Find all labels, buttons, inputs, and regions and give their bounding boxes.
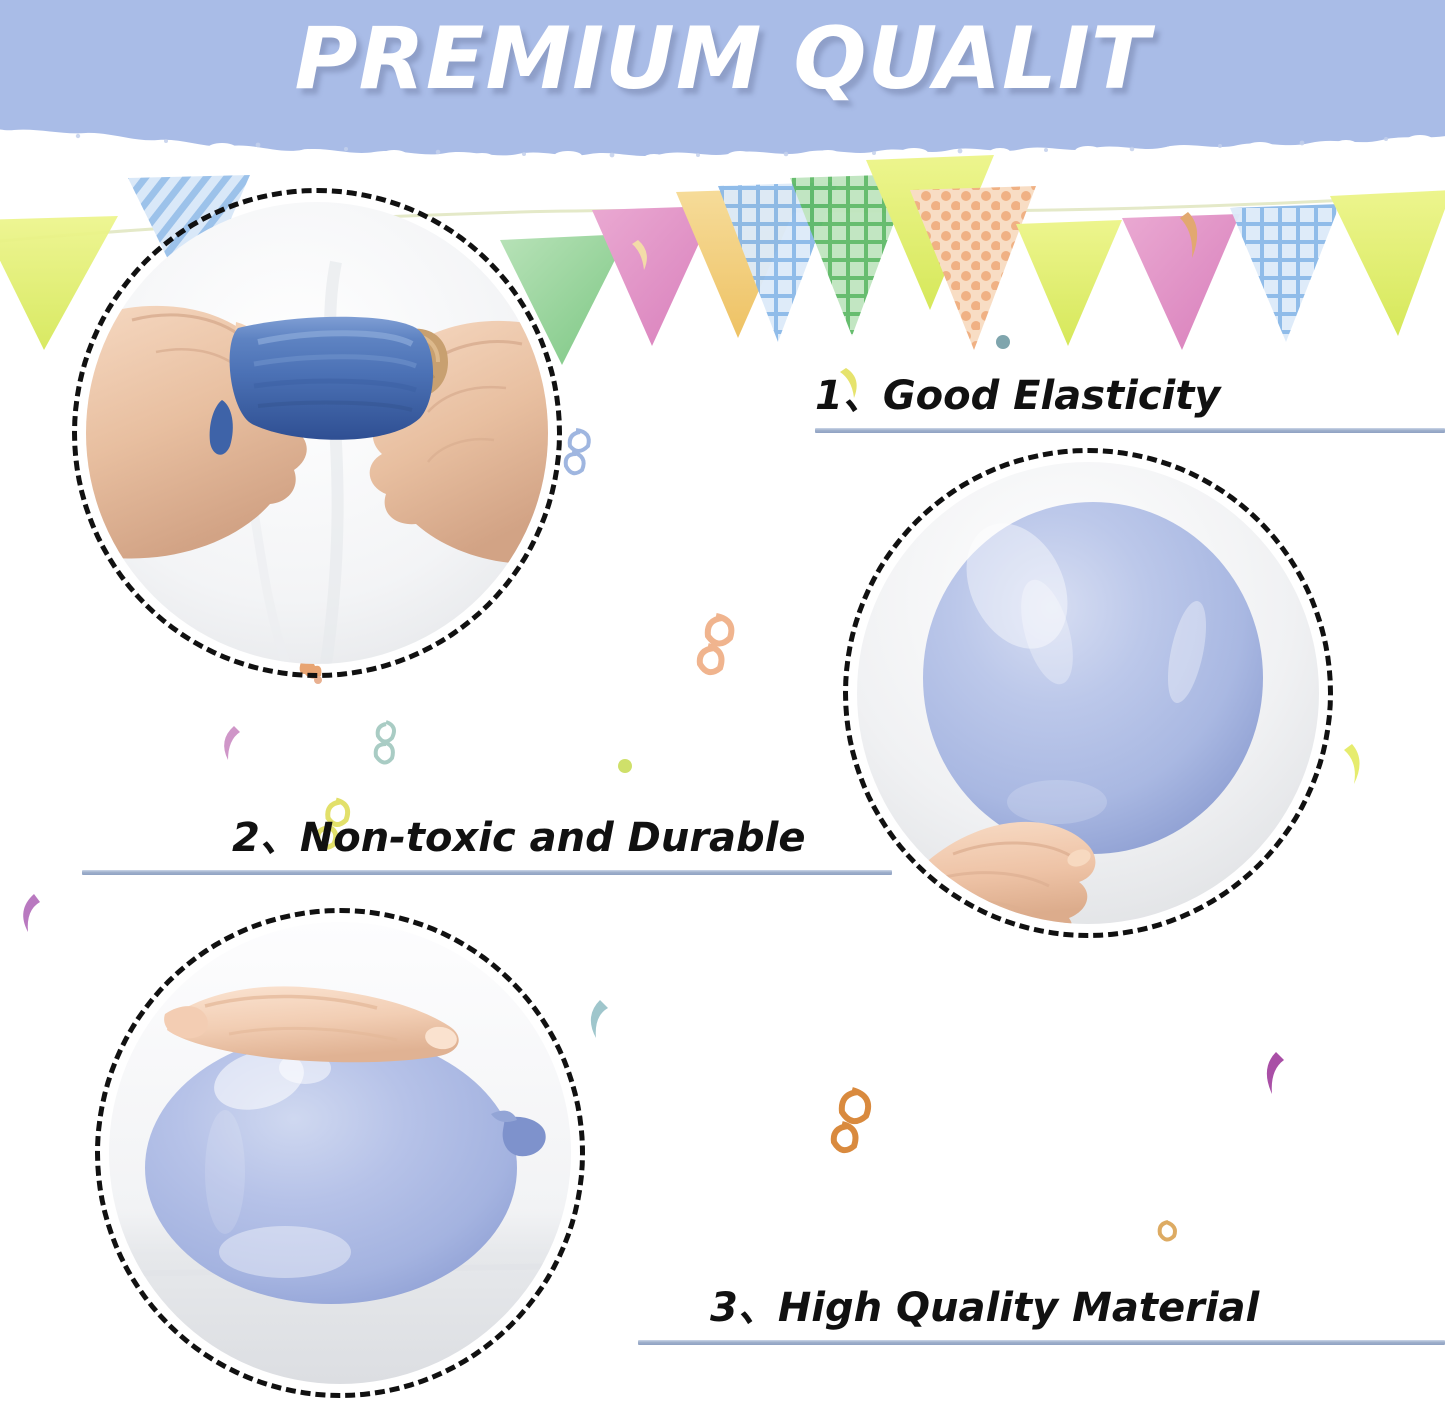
feature-rule-3 bbox=[638, 1340, 1445, 1345]
feature-label-1: 1、Good Elasticity bbox=[815, 376, 1445, 416]
teal-crescent-icon bbox=[591, 1000, 608, 1038]
tan-crescent-icon bbox=[1180, 212, 1197, 258]
feature-label-2: 2、Non-toxic and Durable bbox=[82, 818, 892, 858]
dashed-circle-border-3 bbox=[95, 908, 585, 1398]
product-infographic-page: PREMIUM QUALIT bbox=[0, 0, 1445, 1412]
feature-rule-2 bbox=[82, 870, 892, 875]
feature-row-2: 2、Non-toxic and Durable bbox=[82, 818, 892, 875]
teal-dot-icon bbox=[996, 335, 1010, 349]
feature-row-1: 1、Good Elasticity bbox=[815, 376, 1445, 433]
peach-swirl-icon bbox=[700, 616, 732, 672]
feature-row-3: 3、High Quality Material bbox=[638, 1288, 1445, 1345]
tan-swirl-icon bbox=[1160, 1222, 1175, 1240]
pressed-balloon-photo bbox=[95, 908, 585, 1398]
stretched-balloon-photo bbox=[72, 188, 562, 678]
feature-rule-1 bbox=[815, 428, 1445, 433]
cream-crescent-icon bbox=[632, 240, 647, 270]
orange-swirl-icon bbox=[834, 1090, 868, 1150]
dashed-circle-border-1 bbox=[72, 188, 562, 678]
purple-crescent-3-icon bbox=[1267, 1052, 1284, 1094]
feature-label-3: 3、High Quality Material bbox=[638, 1288, 1445, 1328]
green-dot-icon bbox=[618, 759, 632, 773]
pink-crescent-icon bbox=[224, 726, 240, 760]
blue-swirl-icon bbox=[566, 430, 589, 473]
dashed-circle-border-2 bbox=[843, 448, 1333, 938]
lime-crescent-icon bbox=[1344, 744, 1360, 784]
inflated-balloon-photo bbox=[843, 448, 1333, 938]
teal-swirl-icon bbox=[376, 722, 394, 763]
purple-crescent-2-icon bbox=[23, 894, 40, 932]
